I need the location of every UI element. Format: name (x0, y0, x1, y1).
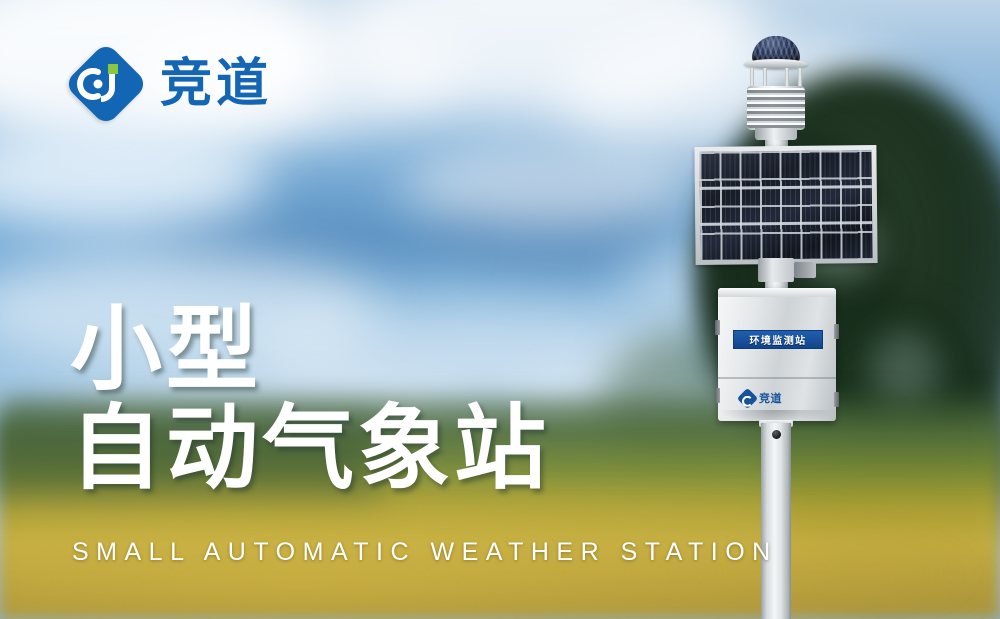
headline-block: 小型 自动气象站 (70, 300, 550, 499)
control-box-brand-label: 竞道 (759, 390, 782, 406)
sensor-base (755, 128, 797, 140)
weather-station-graphic: 环境监测站 竞道 (690, 28, 890, 619)
pole-bolt-icon (772, 430, 781, 439)
solar-panel-bracket (794, 262, 816, 278)
logo-glyph-icon (68, 46, 144, 122)
solar-panel-bracket (758, 258, 794, 282)
control-box-seam (718, 377, 836, 379)
headline-line-1: 小型 (70, 300, 550, 399)
control-box-lid (718, 288, 836, 297)
brand-name-label: 竞道 (160, 58, 272, 110)
jingdao-diamond-logo-icon (737, 387, 758, 408)
ultrasonic-weather-sensor-icon (730, 28, 822, 138)
brand-logo[interactable]: 竞道 (68, 46, 272, 122)
control-box: 环境监测站 竞道 (718, 288, 836, 421)
solar-panel-icon (694, 145, 877, 265)
radiation-shield-icon (747, 86, 805, 130)
jingdao-diamond-logo-icon (68, 46, 144, 122)
control-box-hinge (834, 392, 839, 407)
control-box-banner-label: 环境监测站 (750, 332, 807, 347)
solar-panel-cells (699, 150, 872, 260)
control-box-hinge (834, 324, 839, 339)
control-box-brand: 竞道 (740, 390, 782, 406)
control-box-banner: 环境监测站 (733, 330, 823, 349)
control-box-hinge (715, 320, 720, 335)
control-box-hinge (715, 388, 720, 403)
subtitle-label: SMALL AUTOMATIC WEATHER STATION (72, 538, 778, 567)
mounting-pole-lower (761, 423, 791, 619)
promo-banner: 环境监测站 竞道 竞道 小型 自动气象站 SMALL AUTO (0, 0, 1000, 619)
headline-line-2: 自动气象站 (70, 399, 550, 498)
